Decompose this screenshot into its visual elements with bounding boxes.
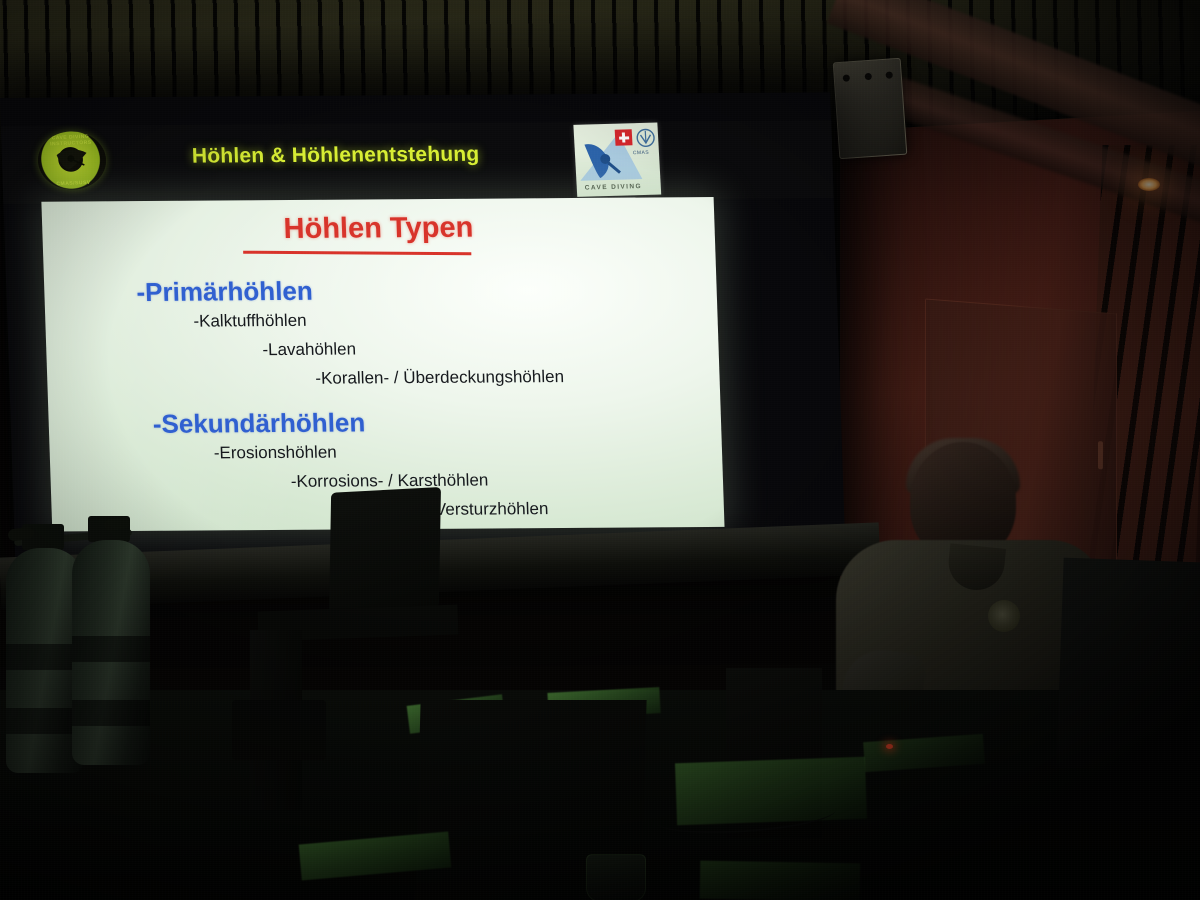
ceiling-spotlight: [1138, 178, 1160, 191]
classroom-presentation-photo: Höhlen & Höhlenentstehung CAVE DIVING IN…: [0, 0, 1200, 900]
group-heading-primaerhoehlen: -Primärhöhlen: [136, 273, 717, 308]
list-item: -Kalktuffhöhlen: [193, 308, 718, 332]
swiss-cmas-cave-diving-logo-icon: CMAS CAVE DIVING: [573, 123, 661, 197]
laptop-right[interactable]: [1056, 558, 1200, 773]
diver-silhouette-icon: [53, 145, 91, 174]
list-item: -Lavahöhlen: [262, 337, 719, 360]
speaker-holes: [843, 71, 893, 82]
slide-title: Höhlen Typen: [42, 210, 715, 248]
cave-diving-caption: CAVE DIVING: [585, 183, 643, 192]
tank-band: [72, 700, 150, 726]
slide-header-title: Höhlen & Höhlenentstehung: [192, 143, 480, 169]
status-led-icon: [886, 744, 893, 749]
list-item: -Erosionshöhlen: [213, 440, 722, 464]
swiss-flag-icon: [615, 129, 633, 145]
paper-sheet: [700, 861, 861, 900]
tank-band: [72, 636, 150, 662]
overhead-projector-base: [232, 700, 326, 760]
list-item: -Korallen- / Überdeckungshöhlen: [315, 366, 720, 389]
door-handle-icon[interactable]: [1098, 441, 1103, 469]
list-item: -Korrosions- / Karsthöhlen: [290, 469, 723, 492]
slide-group-primary: -Primärhöhlen -Kalktuffhöhlen -Lavahöhle…: [44, 273, 720, 391]
cave-diving-instructors-badge-icon: CAVE DIVING INSTRUCTORS CMAS/SUSV: [36, 130, 108, 191]
cup: [586, 854, 646, 900]
wall-speaker: [833, 58, 908, 160]
scuba-cylinder: [72, 540, 150, 765]
overhead-projector-head: [329, 487, 441, 613]
shirt-logo-badge-icon: [988, 600, 1020, 632]
slide-content: Höhlen Typen -Primärhöhlen -Kalktuffhöhl…: [41, 197, 724, 532]
cmas-emblem-icon: [636, 128, 656, 151]
cmas-label: CMAS: [633, 150, 649, 156]
group-heading-sekundaerhoehlen: -Sekundärhöhlen: [152, 405, 721, 440]
slide-title-underline: [243, 251, 471, 255]
